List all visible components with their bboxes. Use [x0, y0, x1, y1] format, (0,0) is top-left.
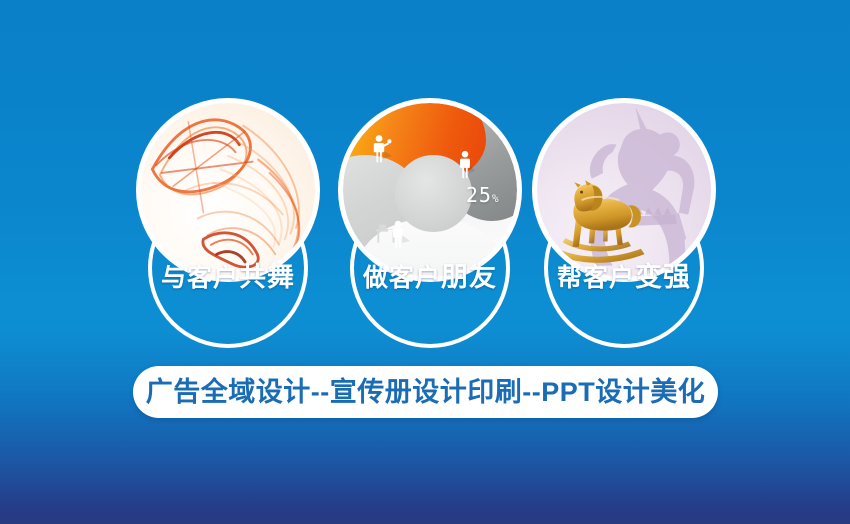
- card-caption: 与客户共舞: [128, 264, 328, 291]
- stat-label-25-percent: 25%: [466, 185, 500, 205]
- caption-prefix: 与客户: [161, 264, 239, 292]
- card-caption: 做客户朋友: [330, 264, 530, 291]
- image-circle-rocking-horse: [532, 98, 716, 282]
- caption-prefix: 帮客户: [557, 264, 635, 292]
- bottom-banner-text: 广告全域设计--宣传册设计印刷--PPT设计美化: [146, 379, 705, 406]
- golden-rocking-horse-image: [537, 103, 711, 277]
- infographic-circles-image: 25%: [343, 103, 517, 277]
- banner-canvas: 与客户共舞 25%: [0, 0, 850, 524]
- caption-strong: 变强: [635, 262, 691, 292]
- cards-row: 与客户共舞 25%: [0, 0, 850, 340]
- presenter-figure-icon: [371, 134, 393, 164]
- golden-rocking-horse-figure: [551, 180, 659, 264]
- stat-value: 25: [466, 183, 492, 207]
- desk-worker-figure-icon: [376, 219, 410, 249]
- card-caption: 帮客户变强: [524, 264, 724, 291]
- standing-person-figure-icon: [457, 150, 475, 180]
- caption-strong: 朋友: [441, 262, 497, 292]
- stat-unit: %: [492, 192, 500, 205]
- bottom-banner[interactable]: 广告全域设计--宣传册设计印刷--PPT设计美化: [133, 366, 718, 418]
- orange-smoke-swirl-image: [141, 103, 315, 277]
- card-make-client-stronger[interactable]: 帮客户变强: [524, 90, 724, 330]
- caption-strong: 共舞: [239, 262, 295, 292]
- caption-prefix: 做客户: [363, 264, 441, 292]
- card-be-client-friend[interactable]: 25%: [330, 90, 530, 330]
- image-circle-orange-smoke: [136, 98, 320, 282]
- card-dance-with-client[interactable]: 与客户共舞: [128, 90, 328, 330]
- smoke-strokes: [141, 103, 315, 277]
- image-circle-infographic: 25%: [338, 98, 522, 282]
